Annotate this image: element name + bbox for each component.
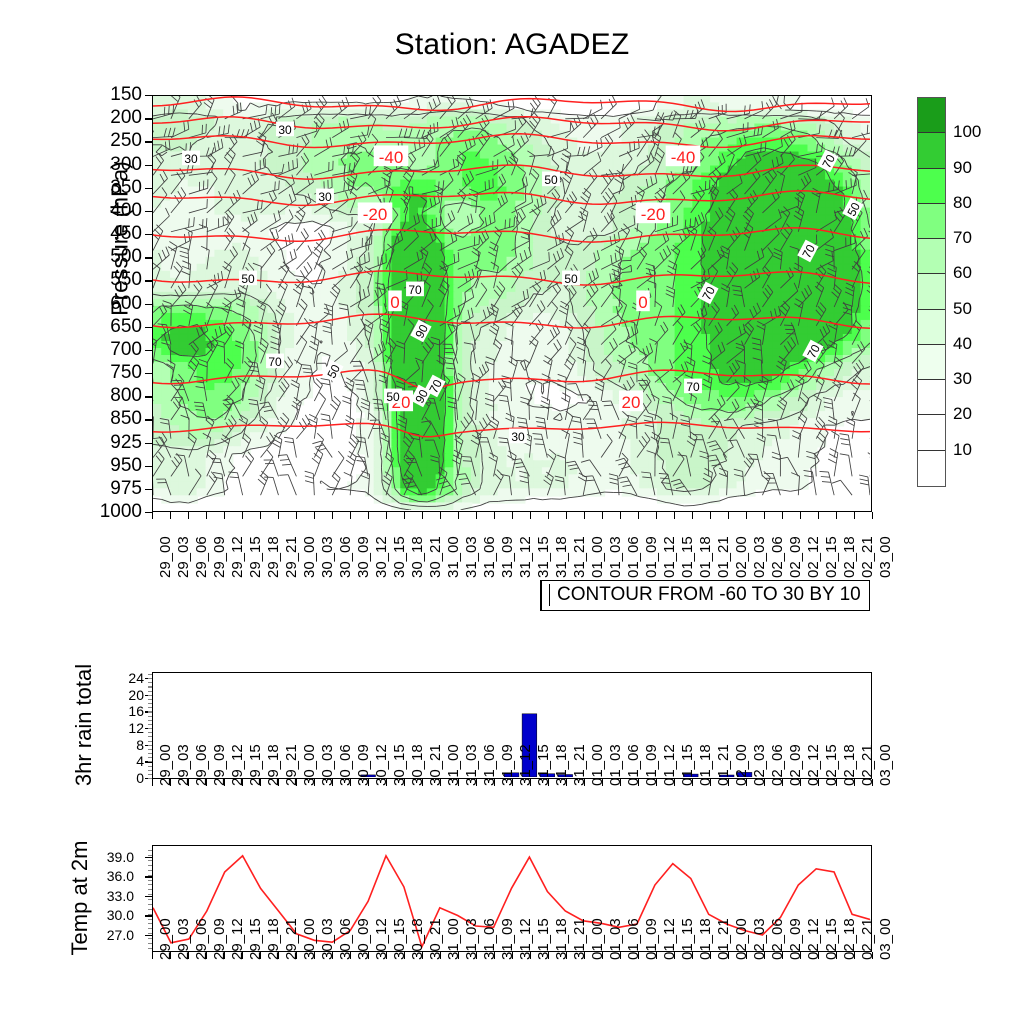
time-tick-label: 31_12 [517,918,534,960]
time-tick-label: 02_00 [733,918,750,960]
temp-tick: 33.0 [80,888,134,904]
time-tick-mark [692,779,693,786]
pressure-tick-mark [145,188,152,189]
pressure-tick: 550 [82,269,142,291]
time-tick-label: 31_03 [463,744,480,786]
time-tick-mark [278,779,279,786]
time-tick-mark [728,512,729,519]
pressure-tick: 400 [82,200,142,222]
time-tick-label: 29_03 [175,744,192,786]
time-tick-label: 01_00 [589,918,606,960]
time-tick-mark [512,779,513,786]
rain-tick: 16 [90,703,144,719]
pressure-tick: 650 [82,316,142,338]
time-tick-label: 29_00 [157,918,174,960]
time-tick-label: 31_21 [571,918,588,960]
time-tick-label: 01_06 [625,918,642,960]
time-tick-label: 31_12 [517,536,534,578]
time-tick-label: 31_03 [463,918,480,960]
time-tick-mark [692,512,693,519]
pressure-tick: 700 [82,339,142,361]
time-tick-label: 29_18 [265,918,282,960]
time-tick-label: 29_18 [265,536,282,578]
time-tick-mark [872,952,873,959]
time-tick-label: 30_06 [337,918,354,960]
time-tick-label: 30_15 [391,918,408,960]
contour-label: -20 [358,202,393,223]
rain-tick: 20 [90,687,144,703]
time-tick-label: 29_15 [247,918,264,960]
time-tick-mark [152,512,153,519]
contour-label: 30 [182,151,200,166]
time-tick-label: 30_18 [409,918,426,960]
time-tick-label: 01_03 [607,918,624,960]
pressure-tick: 350 [82,177,142,199]
time-tick-mark [818,952,819,959]
time-tick-mark [854,512,855,519]
colorbar-label: 20 [953,404,972,424]
colorbar-label: 60 [953,263,972,283]
pressure-tick: 250 [82,130,142,152]
colorbar-cell [918,310,945,345]
humidity-colorbar [917,97,946,487]
time-tick-mark [440,779,441,786]
colorbar-cell [918,415,945,450]
time-tick-label: 02_09 [787,536,804,578]
time-tick-label: 01_12 [661,744,678,786]
time-tick-mark [800,512,801,519]
time-tick-label: 29_18 [265,744,282,786]
pressure-tick-mark [145,165,152,166]
colorbar-cell [918,451,945,486]
time-tick-label: 29_12 [229,744,246,786]
time-tick-label: 30_15 [391,536,408,578]
pressure-tick-mark [145,118,152,119]
pressure-tick-mark [145,373,152,374]
time-tick-label: 30_09 [355,536,372,578]
time-tick-label: 01_21 [715,536,732,578]
time-tick-mark [170,779,171,786]
time-tick-label: 31_18 [553,536,570,578]
time-tick-label: 02_00 [733,536,750,578]
pressure-tick-mark [145,327,152,328]
time-tick-mark [386,952,387,959]
time-tick-mark [350,779,351,786]
time-tick-mark [296,779,297,786]
time-tick-label: 03_00 [877,536,894,578]
time-tick-label: 02_21 [859,536,876,578]
time-tick-label: 01_03 [607,744,624,786]
contour-label: -20 [636,202,671,223]
time-tick-mark [242,779,243,786]
time-tick-mark [638,952,639,959]
time-tick-label: 30_00 [301,536,318,578]
time-tick-label: 31_03 [463,536,480,578]
time-tick-mark [710,952,711,959]
colorbar-label: 100 [953,122,981,142]
time-tick-mark [818,779,819,786]
contour-label: 70 [266,354,284,369]
cross-section-frame: -40-40-20-200020203030305050507070909070… [152,95,872,512]
time-tick-mark [746,512,747,519]
time-tick-label: 02_12 [805,744,822,786]
temp-tick-mark [145,915,152,916]
time-tick-label: 30_12 [373,536,390,578]
contour-label: 70 [406,282,424,297]
colorbar-label: 90 [953,158,972,178]
time-tick-label: 30_09 [355,744,372,786]
time-tick-label: 01_21 [715,918,732,960]
contour-label: 50 [542,172,560,187]
time-tick-mark [314,952,315,959]
time-tick-mark [800,952,801,959]
time-tick-label: 02_18 [841,744,858,786]
contour-label: 30 [509,429,527,444]
time-tick-mark [260,952,261,959]
pressure-tick-mark [145,489,152,490]
contour-label: 0 [388,290,402,311]
time-tick-mark [782,512,783,519]
time-tick-mark [206,952,207,959]
time-tick-label: 29_09 [211,536,228,578]
colorbar-label: 30 [953,369,972,389]
time-tick-label: 29_00 [157,744,174,786]
time-tick-mark [782,952,783,959]
time-tick-label: 01_06 [625,744,642,786]
colorbar-label: 50 [953,299,972,319]
time-tick-label: 30_21 [427,744,444,786]
time-tick-mark [710,512,711,519]
time-tick-mark [206,512,207,519]
time-tick-mark [152,952,153,959]
time-tick-mark [350,512,351,519]
pressure-tick-mark [145,280,152,281]
time-tick-mark [638,779,639,786]
time-tick-mark [746,779,747,786]
time-tick-mark [494,779,495,786]
time-tick-label: 03_00 [877,918,894,960]
rain-tick: 4 [90,753,144,769]
time-tick-mark [386,779,387,786]
time-tick-mark [494,512,495,519]
time-tick-mark [512,512,513,519]
time-tick-label: 30_15 [391,744,408,786]
pressure-tick-mark [145,419,152,420]
time-tick-label: 02_06 [769,744,786,786]
time-tick-label: 29_06 [193,536,210,578]
time-tick-label: 02_15 [823,536,840,578]
time-tick-mark [224,952,225,959]
time-tick-label: 31_06 [481,536,498,578]
pressure-tick: 800 [82,385,142,407]
time-tick-mark [512,952,513,959]
time-tick-label: 31_09 [499,536,516,578]
time-tick-mark [602,952,603,959]
time-tick-label: 01_12 [661,536,678,578]
time-tick-mark [656,952,657,959]
pressure-tick: 950 [82,455,142,477]
time-tick-mark [800,779,801,786]
time-tick-mark [260,779,261,786]
pressure-tick-mark [145,141,152,142]
time-tick-mark [854,952,855,959]
time-tick-mark [314,512,315,519]
time-tick-mark [782,779,783,786]
time-tick-label: 29_06 [193,918,210,960]
time-tick-mark [530,512,531,519]
rain-tick: 0 [90,770,144,786]
time-tick-label: 02_06 [769,918,786,960]
contour-note-text: CONTOUR FROM -60 TO 30 BY 10 [549,584,861,606]
colorbar-label: 70 [953,228,972,248]
time-tick-mark [278,512,279,519]
time-tick-mark [404,779,405,786]
pressure-tick-mark [145,350,152,351]
time-tick-label: 02_12 [805,536,822,578]
time-tick-mark [350,952,351,959]
time-tick-mark [476,952,477,959]
time-tick-label: 02_18 [841,918,858,960]
time-tick-mark [674,512,675,519]
time-tick-label: 30_18 [409,744,426,786]
time-tick-mark [602,512,603,519]
page-title: Station: AGADEZ [0,28,1024,62]
time-tick-label: 29_12 [229,536,246,578]
time-tick-label: 02_18 [841,536,858,578]
time-tick-label: 29_21 [283,744,300,786]
time-tick-mark [206,779,207,786]
time-tick-mark [566,952,567,959]
time-tick-label: 29_09 [211,918,228,960]
contour-note-box: CONTOUR FROM -60 TO 30 BY 10 [540,580,870,611]
contour-label: 30 [316,189,334,204]
time-tick-mark [296,512,297,519]
time-tick-label: 30_03 [319,918,336,960]
time-tick-label: 29_00 [157,536,174,578]
time-tick-label: 29_09 [211,744,228,786]
temp-tick: 36.0 [80,868,134,884]
colorbar-cell [918,204,945,239]
time-tick-label: 31_15 [535,918,552,960]
time-tick-label: 30_06 [337,536,354,578]
temp-tick-mark [145,935,152,936]
time-tick-mark [548,952,549,959]
time-tick-label: 29_21 [283,536,300,578]
time-tick-mark [746,952,747,959]
time-tick-label: 01_18 [697,744,714,786]
time-tick-mark [440,952,441,959]
time-tick-label: 02_00 [733,744,750,786]
time-tick-label: 02_09 [787,744,804,786]
colorbar-label: 10 [953,440,972,460]
pressure-tick: 925 [82,432,142,454]
time-tick-mark [566,779,567,786]
contour-label: 20 [619,390,643,411]
time-tick-mark [764,779,765,786]
time-tick-label: 29_03 [175,918,192,960]
temp-tick-mark [145,857,152,858]
time-tick-mark [620,512,621,519]
time-tick-mark [188,512,189,519]
time-tick-label: 02_12 [805,918,822,960]
time-tick-label: 30_03 [319,744,336,786]
time-tick-mark [260,512,261,519]
time-tick-mark [440,512,441,519]
time-tick-mark [548,779,549,786]
colorbar-cell [918,380,945,415]
time-tick-label: 01_09 [643,536,660,578]
pressure-tick: 150 [82,84,142,106]
pressure-tick-mark [145,443,152,444]
time-tick-mark [530,952,531,959]
time-tick-mark [332,952,333,959]
time-tick-label: 30_09 [355,918,372,960]
time-tick-label: 29_12 [229,918,246,960]
contour-label: -40 [666,145,701,166]
time-tick-mark [170,952,171,959]
time-tick-label: 30_12 [373,918,390,960]
colorbar-label: 80 [953,193,972,213]
time-tick-label: 31_15 [535,744,552,786]
time-tick-mark [422,512,423,519]
contour-label: 30 [276,122,294,137]
colorbar-cell [918,98,945,133]
time-tick-label: 30_18 [409,536,426,578]
time-tick-mark [188,779,189,786]
time-tick-mark [188,952,189,959]
temp-tick: 27.0 [80,927,134,943]
time-tick-label: 01_09 [643,744,660,786]
contour-label: 50 [239,271,257,286]
time-tick-label: 01_03 [607,536,624,578]
time-tick-label: 31_18 [553,744,570,786]
time-tick-label: 30_12 [373,744,390,786]
time-tick-label: 31_09 [499,744,516,786]
contour-label: -40 [374,145,409,166]
time-tick-label: 31_00 [445,918,462,960]
time-tick-mark [152,779,153,786]
time-tick-mark [854,779,855,786]
temp-tick: 39.0 [80,849,134,865]
time-tick-mark [764,512,765,519]
time-tick-mark [638,512,639,519]
time-tick-label: 31_00 [445,744,462,786]
time-tick-label: 31_06 [481,918,498,960]
time-tick-mark [368,512,369,519]
time-tick-label: 02_03 [751,536,768,578]
time-tick-mark [332,779,333,786]
time-tick-mark [692,952,693,959]
time-tick-mark [296,952,297,959]
time-tick-label: 01_12 [661,918,678,960]
colorbar-cell [918,239,945,274]
contour-label: 50 [384,389,402,404]
time-tick-mark [458,512,459,519]
time-tick-mark [242,512,243,519]
colorbar-cell [918,345,945,380]
time-tick-mark [620,779,621,786]
time-tick-mark [404,512,405,519]
pressure-tick-mark [145,304,152,305]
time-tick-label: 01_15 [679,918,696,960]
time-tick-mark [386,512,387,519]
time-tick-label: 02_09 [787,918,804,960]
time-tick-mark [836,952,837,959]
time-tick-mark [728,952,729,959]
time-tick-mark [818,512,819,519]
time-tick-mark [728,779,729,786]
cross-section-plot: -40-40-20-200020203030305050507070909070… [153,96,870,510]
pressure-tick-mark [145,257,152,258]
time-tick-mark [566,512,567,519]
time-tick-label: 30_03 [319,536,336,578]
time-tick-label: 30_00 [301,918,318,960]
pressure-tick: 1000 [82,501,142,523]
time-tick-label: 01_00 [589,536,606,578]
contour-label: 50 [562,271,580,286]
time-tick-label: 31_09 [499,918,516,960]
contour-label: 70 [684,379,702,394]
pressure-tick: 750 [82,362,142,384]
time-tick-mark [476,779,477,786]
time-tick-mark [422,779,423,786]
time-tick-label: 02_03 [751,744,768,786]
time-tick-mark [674,952,675,959]
pressure-tick: 300 [82,154,142,176]
time-tick-label: 01_18 [697,918,714,960]
time-tick-mark [656,512,657,519]
temp-tick: 30.0 [80,907,134,923]
time-tick-label: 02_21 [859,744,876,786]
time-tick-label: 01_09 [643,918,660,960]
time-tick-mark [530,779,531,786]
pressure-tick: 200 [82,107,142,129]
pressure-tick: 600 [82,293,142,315]
rain-tick: 12 [90,720,144,736]
time-tick-mark [620,952,621,959]
time-tick-label: 01_00 [589,744,606,786]
time-tick-mark [170,512,171,519]
time-tick-label: 29_15 [247,744,264,786]
colorbar-cell [918,169,945,204]
time-tick-label: 01_18 [697,536,714,578]
time-tick-label: 03_00 [877,744,894,786]
pressure-tick-mark [145,234,152,235]
humidity-cross-section-panel: -40-40-20-200020203030305050507070909070… [152,95,872,512]
time-tick-label: 01_06 [625,536,642,578]
pressure-tick-mark [145,211,152,212]
time-tick-label: 31_21 [571,536,588,578]
time-tick-label: 29_06 [193,744,210,786]
time-tick-label: 30_21 [427,918,444,960]
time-tick-label: 02_15 [823,918,840,960]
time-tick-mark [422,952,423,959]
time-tick-mark [584,779,585,786]
time-tick-label: 30_21 [427,536,444,578]
temp-tick-mark [145,896,152,897]
time-tick-mark [368,779,369,786]
time-tick-label: 30_06 [337,744,354,786]
time-tick-mark [224,779,225,786]
time-tick-mark [278,952,279,959]
colorbar-cell [918,133,945,168]
time-tick-mark [224,512,225,519]
time-tick-label: 02_15 [823,744,840,786]
time-tick-mark [404,952,405,959]
time-tick-mark [494,952,495,959]
time-tick-label: 31_15 [535,536,552,578]
time-tick-label: 31_12 [517,744,534,786]
